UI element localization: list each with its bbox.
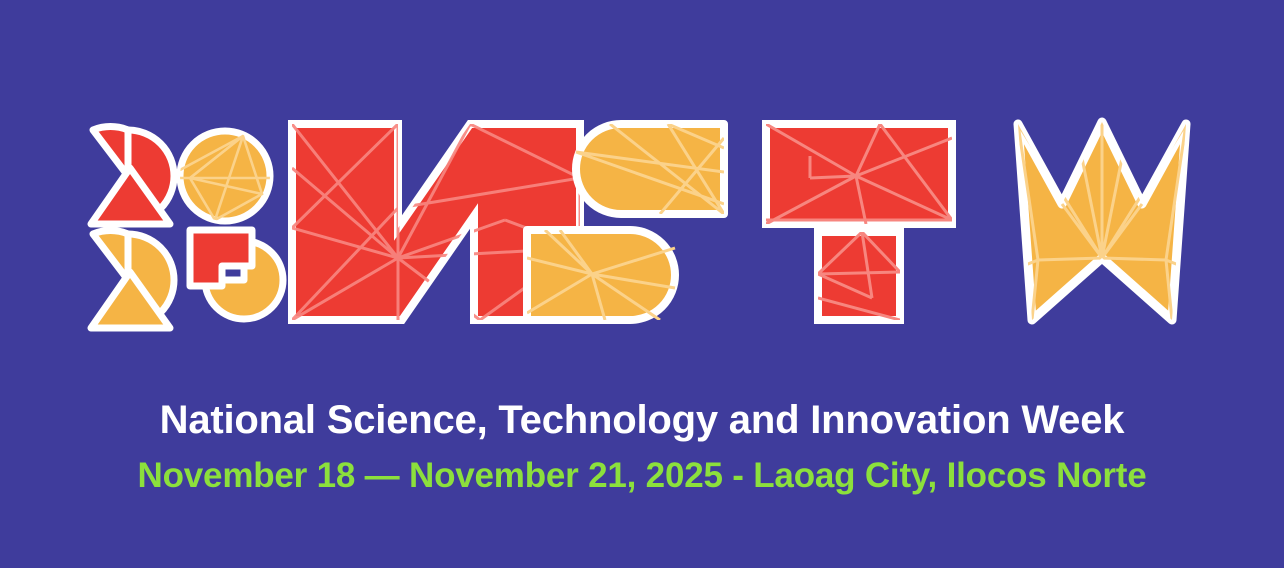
poster-text-block: National Science, Technology and Innovat… — [0, 398, 1284, 495]
nstw-poster: National Science, Technology and Innovat… — [0, 0, 1284, 568]
digit-5 — [190, 230, 283, 319]
page-title: National Science, Technology and Innovat… — [0, 398, 1284, 443]
digit-2-top — [91, 127, 186, 224]
digit-2-bottom — [91, 231, 174, 328]
letter-w — [1018, 122, 1186, 320]
event-dates-location: November 18 — November 21, 2025 - Laoag … — [0, 456, 1284, 495]
letter-t — [766, 124, 952, 320]
digit-0 — [180, 131, 270, 221]
nstw-logo — [0, 108, 1284, 336]
nstw-logo-svg — [0, 108, 1284, 336]
